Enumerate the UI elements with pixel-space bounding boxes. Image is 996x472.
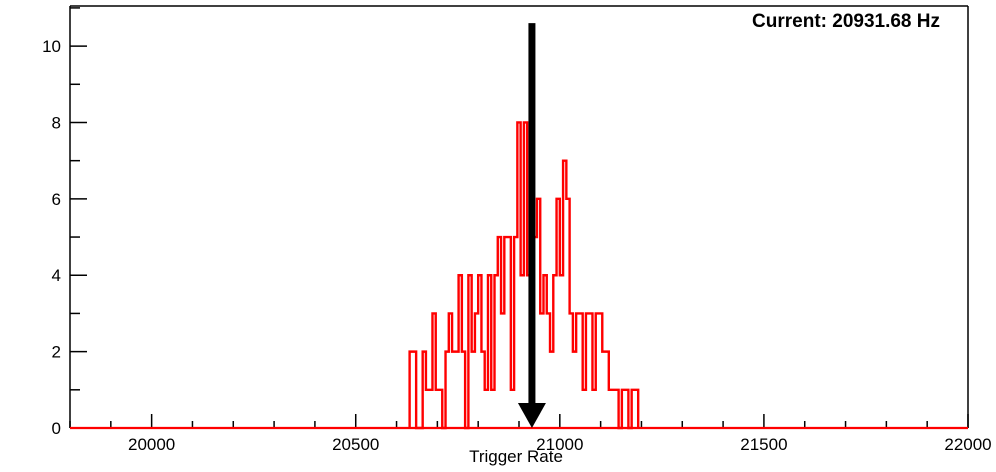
y-axis-ticks	[70, 8, 87, 428]
x-axis-ticks	[70, 414, 968, 428]
current-rate-label: Current: 20931.68 Hz	[752, 11, 940, 32]
histogram-series	[410, 122, 639, 428]
x-tick-label: 22000	[944, 435, 991, 454]
histogram-outline	[410, 122, 639, 428]
trigger-rate-histogram: 0246810 2000020500210002150022000 Trigge…	[0, 0, 996, 472]
x-axis-title: Trigger Rate	[469, 447, 563, 466]
y-axis-tick-labels: 0246810	[42, 37, 61, 438]
y-tick-label: 6	[52, 190, 61, 209]
y-tick-label: 10	[42, 37, 61, 56]
current-value-arrow-icon	[518, 23, 546, 428]
x-tick-label: 21500	[740, 435, 787, 454]
plot-frame	[70, 6, 968, 428]
y-tick-label: 4	[52, 266, 61, 285]
x-tick-label: 20500	[332, 435, 379, 454]
x-tick-label: 20000	[128, 435, 175, 454]
y-tick-label: 0	[52, 419, 61, 438]
y-tick-label: 8	[52, 113, 61, 132]
y-tick-label: 2	[52, 343, 61, 362]
chart-root: 0246810 2000020500210002150022000 Trigge…	[0, 0, 996, 472]
